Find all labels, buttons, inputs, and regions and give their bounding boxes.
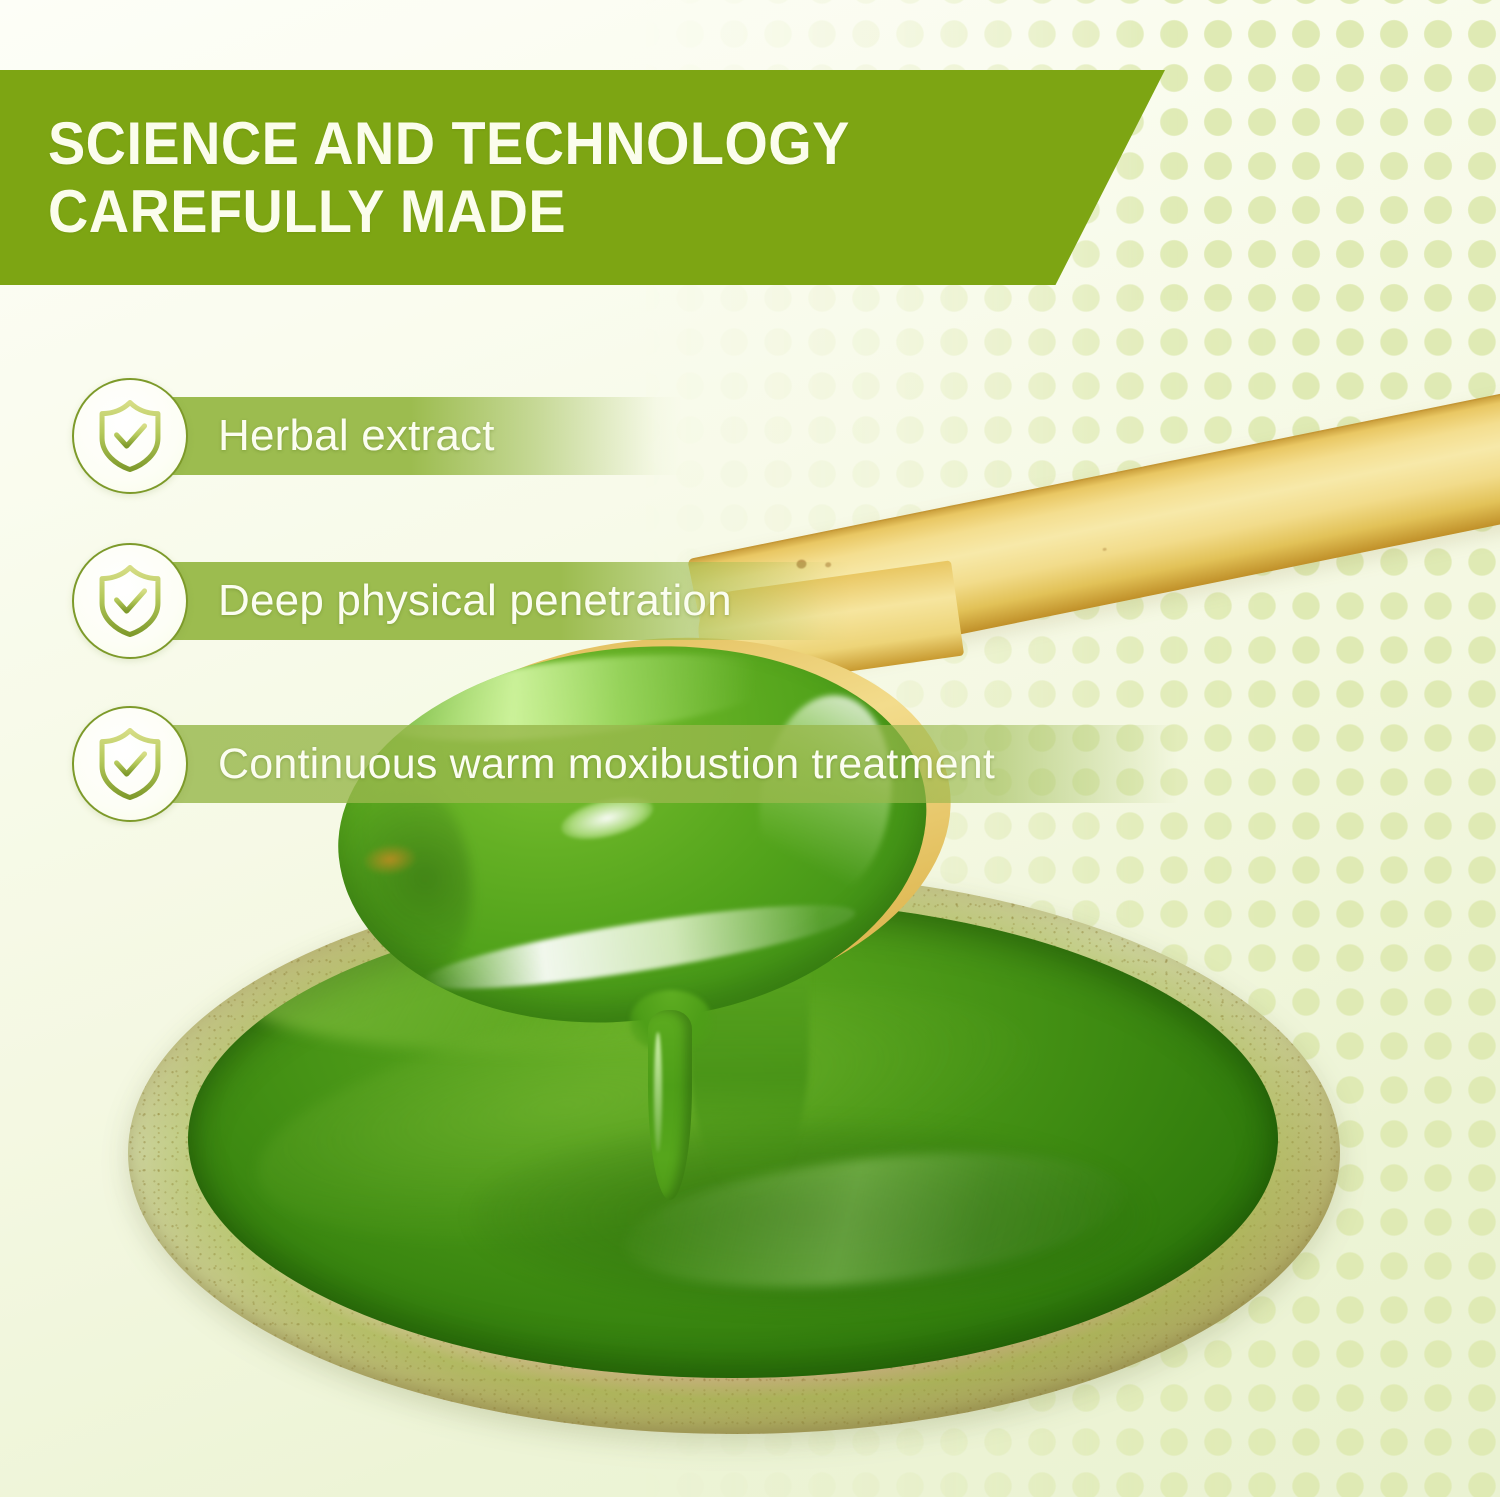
feature-label-2: Deep physical penetration	[218, 576, 732, 626]
feature-item-herbal-extract: Herbal extract	[72, 378, 682, 494]
shield-check-icon	[94, 563, 166, 639]
shield-check-icon	[94, 398, 166, 474]
feature-badge-3	[72, 706, 188, 822]
feature-item-deep-penetration: Deep physical penetration	[72, 543, 850, 659]
feature-label-1: Herbal extract	[218, 411, 495, 461]
feature-item-moxibustion: Continuous warm moxibustion treatment	[72, 706, 1178, 822]
feature-bar-3: Continuous warm moxibustion treatment	[160, 725, 1178, 803]
feature-list: Herbal extract Deep	[0, 0, 1500, 1497]
promo-banner-image: SCIENCE AND TECHNOLOGY CAREFULLY MADE	[0, 0, 1500, 1497]
shield-check-icon	[94, 726, 166, 802]
feature-label-3: Continuous warm moxibustion treatment	[218, 740, 995, 789]
feature-badge-1	[72, 378, 188, 494]
feature-bar-1: Herbal extract	[160, 397, 682, 475]
feature-badge-2	[72, 543, 188, 659]
feature-bar-2: Deep physical penetration	[160, 562, 850, 640]
